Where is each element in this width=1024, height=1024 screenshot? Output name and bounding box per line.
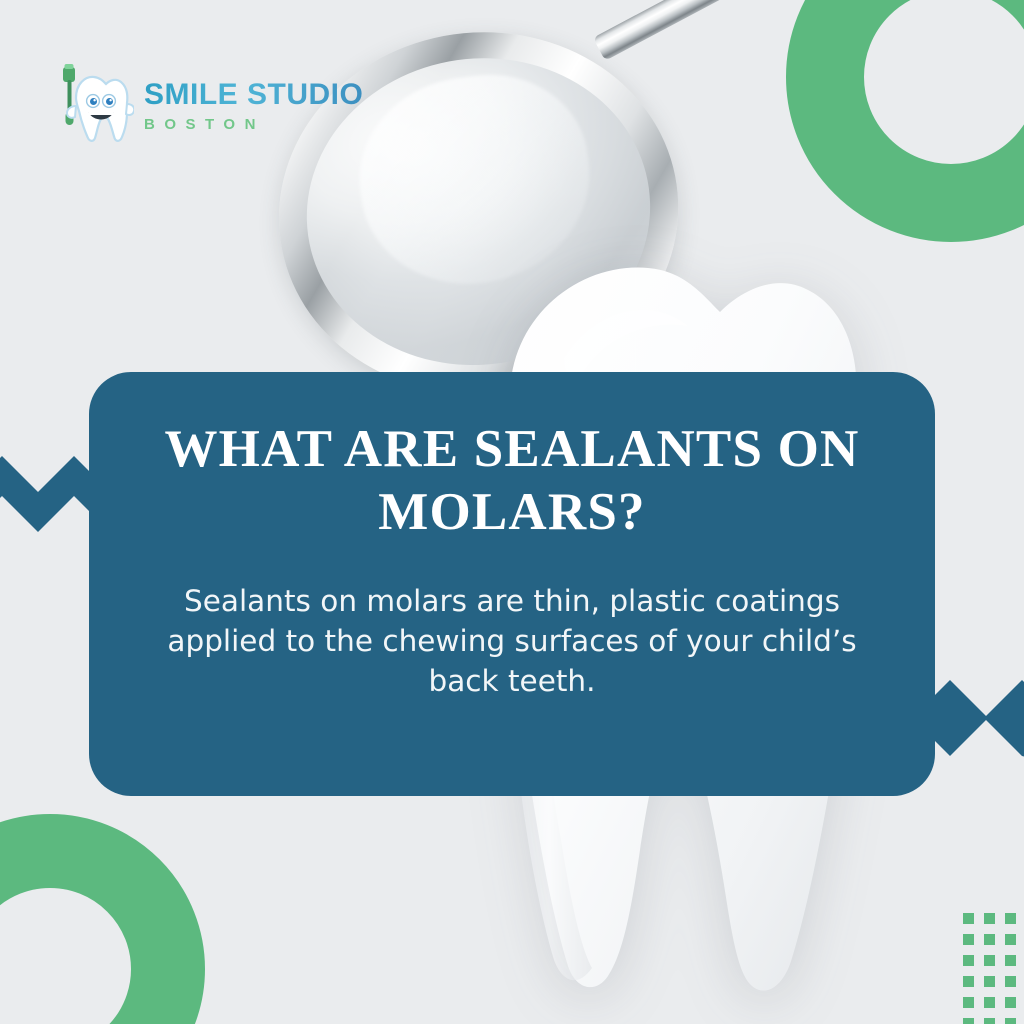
dot-grid-cell <box>984 1018 995 1024</box>
dot-grid-cell <box>963 997 974 1008</box>
dot-grid-cell <box>984 934 995 945</box>
logo-brand-name: SMILE STUDIO <box>144 80 363 110</box>
dot-grid-cell <box>984 955 995 966</box>
info-card: WHAT ARE SEALANTS ON MOLARS? Sealants on… <box>89 372 935 796</box>
dot-grid-cell <box>1005 913 1016 924</box>
dot-grid-cell <box>1005 1018 1016 1024</box>
dot-grid-cell <box>984 976 995 987</box>
dot-grid-cell <box>963 976 974 987</box>
dot-grid-cell <box>1005 997 1016 1008</box>
brand-logo[interactable]: SMILE STUDIO BOSTON <box>52 62 363 146</box>
infographic-canvas: SMILE STUDIO BOSTON WHAT ARE SEALANTS ON… <box>0 0 1024 1024</box>
green-ring-bottom-left-icon <box>0 814 205 1024</box>
tooth-mascot-icon <box>52 62 134 146</box>
dot-grid-cell <box>963 934 974 945</box>
card-body-text: Sealants on molars are thin, plastic coa… <box>145 581 879 701</box>
dot-grid-cell <box>984 913 995 924</box>
card-heading: WHAT ARE SEALANTS ON MOLARS? <box>162 418 862 543</box>
dot-grid-cell <box>963 955 974 966</box>
dot-grid-cell <box>963 1018 974 1024</box>
dot-grid-cell <box>1005 976 1016 987</box>
dot-grid-cell <box>1005 955 1016 966</box>
dot-grid-cell <box>963 913 974 924</box>
green-dot-grid-decoration <box>963 913 1024 1024</box>
logo-wordmark: SMILE STUDIO BOSTON <box>144 76 363 132</box>
dot-grid-cell <box>984 997 995 1008</box>
green-ring-top-right-icon <box>786 0 1024 242</box>
dot-grid-cell <box>1005 934 1016 945</box>
logo-brand-location: BOSTON <box>144 117 363 132</box>
